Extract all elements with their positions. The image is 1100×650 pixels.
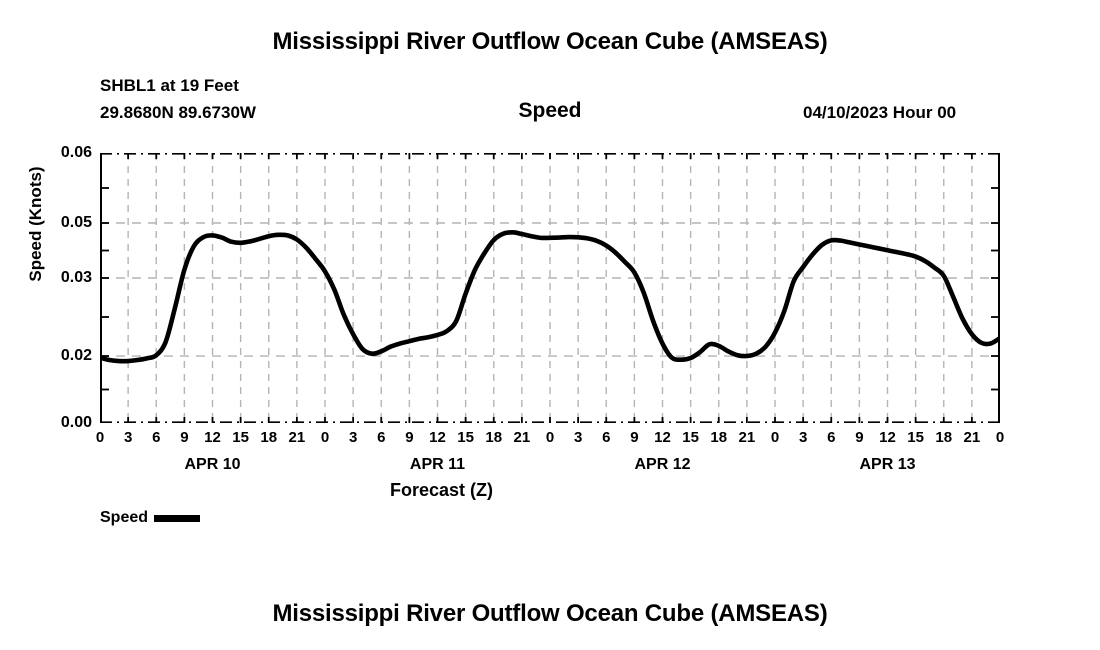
x-tick-label: 6 [819, 430, 843, 445]
page-title-bottom: Mississippi River Outflow Ocean Cube (AM… [0, 600, 1100, 628]
y-tick-label: 0.06 [36, 145, 92, 161]
x-tick-label: 21 [510, 430, 534, 445]
x-tick-label: 6 [144, 430, 168, 445]
x-tick-label: 3 [116, 430, 140, 445]
y-tick-label: 0.05 [36, 215, 92, 231]
x-tick-label: 6 [369, 430, 393, 445]
x-tick-label: 12 [651, 430, 675, 445]
x-tick-label: 9 [397, 430, 421, 445]
page-title-top: Mississippi River Outflow Ocean Cube (AM… [0, 28, 1100, 56]
x-tick-label: 12 [201, 430, 225, 445]
x-tick-label: 9 [172, 430, 196, 445]
x-tick-label: 12 [426, 430, 450, 445]
forecast-datetime-label: 04/10/2023 Hour 00 [803, 103, 956, 123]
x-tick-label: 12 [876, 430, 900, 445]
station-label: SHBL1 at 19 Feet [100, 76, 239, 96]
legend-label-speed: Speed [100, 510, 148, 526]
x-tick-label: 18 [482, 430, 506, 445]
x-tick-label: 21 [960, 430, 984, 445]
chart-page: Mississippi River Outflow Ocean Cube (AM… [0, 0, 1100, 650]
legend: Speed [100, 510, 200, 526]
x-tick-label: 15 [679, 430, 703, 445]
x-tick-label: 21 [285, 430, 309, 445]
x-axis-day-label: APR 10 [153, 457, 273, 473]
x-tick-label: 9 [622, 430, 646, 445]
x-tick-label: 0 [88, 430, 112, 445]
y-tick-label: 0.03 [36, 270, 92, 286]
x-tick-label: 3 [791, 430, 815, 445]
x-axis-day-label: APR 12 [603, 457, 723, 473]
x-tick-label: 15 [454, 430, 478, 445]
speed-line-chart [100, 153, 1000, 423]
x-tick-label: 0 [988, 430, 1012, 445]
x-tick-label: 15 [229, 430, 253, 445]
x-tick-label: 15 [904, 430, 928, 445]
x-axis-day-label: APR 13 [828, 457, 948, 473]
x-tick-label: 18 [932, 430, 956, 445]
y-tick-label: 0.00 [36, 415, 92, 431]
y-axis-tick-labels: 0.060.050.030.020.00 [30, 153, 92, 423]
x-tick-label: 18 [257, 430, 281, 445]
x-axis-label: Forecast (Z) [390, 480, 493, 501]
x-tick-label: 0 [538, 430, 562, 445]
legend-swatch-speed [154, 515, 200, 522]
x-tick-label: 6 [594, 430, 618, 445]
x-tick-label: 0 [313, 430, 337, 445]
x-tick-label: 3 [341, 430, 365, 445]
x-tick-label: 3 [566, 430, 590, 445]
x-axis-day-label: APR 11 [378, 457, 498, 473]
y-tick-label: 0.02 [36, 348, 92, 364]
x-tick-label: 0 [763, 430, 787, 445]
x-tick-label: 21 [735, 430, 759, 445]
x-tick-label: 18 [707, 430, 731, 445]
plot-area [100, 153, 1000, 423]
x-tick-label: 9 [847, 430, 871, 445]
